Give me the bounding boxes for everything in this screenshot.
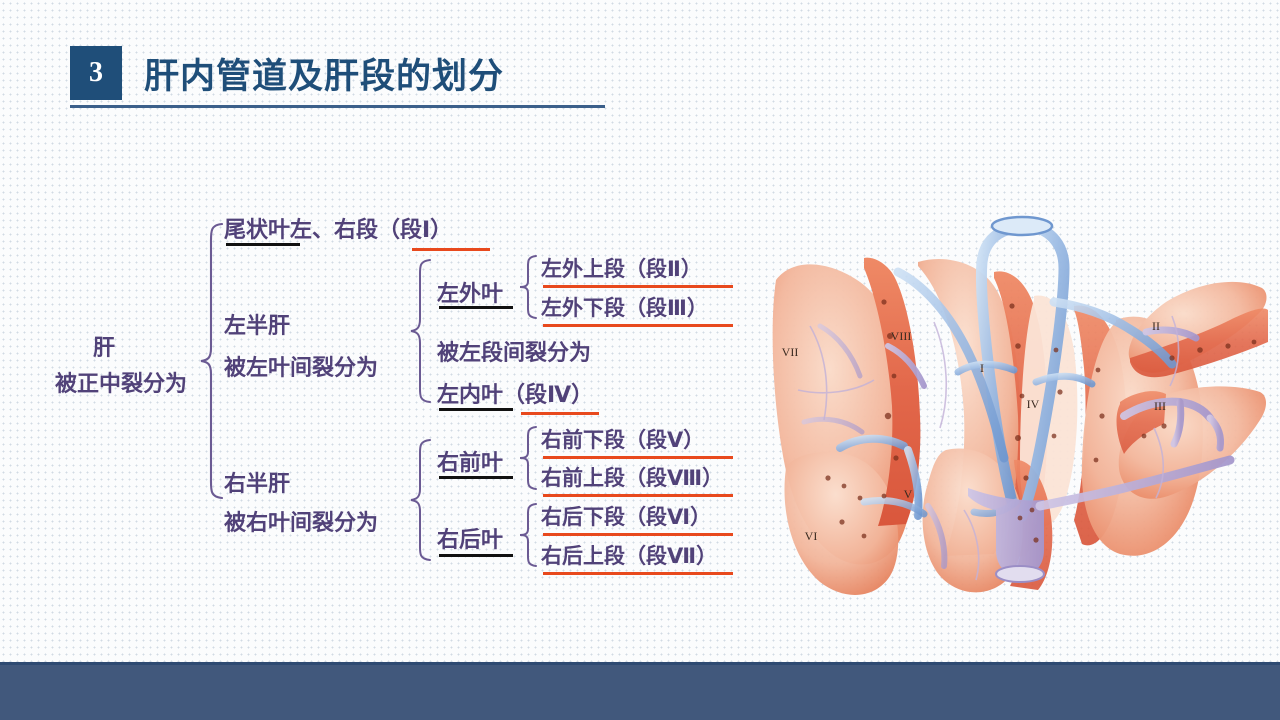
tree-node-right-posterior-lobe: 右后叶: [437, 522, 503, 554]
tree-leaf-segment-7: 右后上段（段Ⅶ）: [541, 540, 717, 570]
tree-leaf-segment-6: 右后下段（段Ⅵ）: [541, 501, 711, 531]
underline-left-lateral-lobe: [439, 306, 513, 309]
tree-node-left-medial-lobe: 左内叶（段Ⅳ）: [437, 377, 593, 409]
underline-left-medial-lobe: [439, 408, 513, 411]
brace-level3-right-posterior: [518, 502, 538, 568]
underline-segment-3: [543, 324, 733, 327]
liver-segment-tree-diagram: 肝 被正中裂分为 尾状叶左、右段（段Ⅰ） 左半肝 被左叶间裂分为 左外叶 左外上…: [0, 0, 780, 640]
brace-level3-right-anterior: [518, 425, 538, 491]
footer-bar: [0, 662, 1280, 720]
segment-label-II: II: [1152, 319, 1160, 333]
underline-segment-7: [543, 572, 733, 575]
underline-caudate-label: [226, 243, 300, 246]
tree-root-line2: 被正中裂分为: [55, 366, 187, 398]
segment-label-III: III: [1154, 399, 1166, 413]
underline-right-anterior-lobe: [439, 476, 513, 479]
brace-level2-left-half: [408, 258, 432, 404]
brace-level3-left-lateral: [518, 254, 538, 320]
brace-level1-main: [198, 222, 224, 500]
tree-leaf-segment-2: 左外上段（段Ⅱ）: [541, 253, 702, 283]
tree-node-left-half-line2: 被左叶间裂分为: [224, 350, 378, 382]
tree-node-right-anterior-lobe: 右前叶: [437, 445, 503, 477]
tree-leaf-segment-3: 左外下段（段Ⅲ）: [541, 292, 708, 322]
underline-right-posterior-lobe: [439, 554, 513, 557]
tree-root-line1: 肝: [93, 330, 115, 362]
underline-segment-5: [543, 456, 733, 459]
underline-segment-6: [543, 533, 733, 536]
segment-label-VIII: VIII: [891, 329, 912, 343]
segment-label-VI: VI: [805, 529, 818, 543]
underline-caudate-segment: [412, 248, 490, 251]
tree-node-left-half-line1: 左半肝: [224, 308, 290, 340]
underline-segment-4: [521, 412, 599, 415]
segment-label-V: V: [904, 487, 913, 501]
tree-leaf-segment-8: 右前上段（段Ⅷ）: [541, 462, 723, 492]
segment-label-VII: VII: [782, 345, 799, 359]
segment-label-IV: IV: [1027, 397, 1040, 411]
tree-leaf-segment-5: 右前下段（段Ⅴ）: [541, 424, 704, 454]
tree-node-right-half-line1: 右半肝: [224, 466, 290, 498]
tree-node-right-half-line2: 被右叶间裂分为: [224, 505, 378, 537]
tree-node-left-lateral-lobe: 左外叶: [437, 276, 503, 308]
underline-segment-8: [543, 494, 733, 497]
segment-label-I: I: [980, 361, 984, 375]
underline-segment-2: [543, 285, 733, 288]
brace-level2-right-half: [408, 438, 432, 562]
liver-anatomy-illustration: VII VIII I II IV III V VI: [768, 210, 1268, 610]
tree-node-left-segmental-fissure: 被左段间裂分为: [437, 335, 591, 367]
tree-node-caudate-lobe: 尾状叶左、右段（段Ⅰ）: [224, 212, 452, 244]
